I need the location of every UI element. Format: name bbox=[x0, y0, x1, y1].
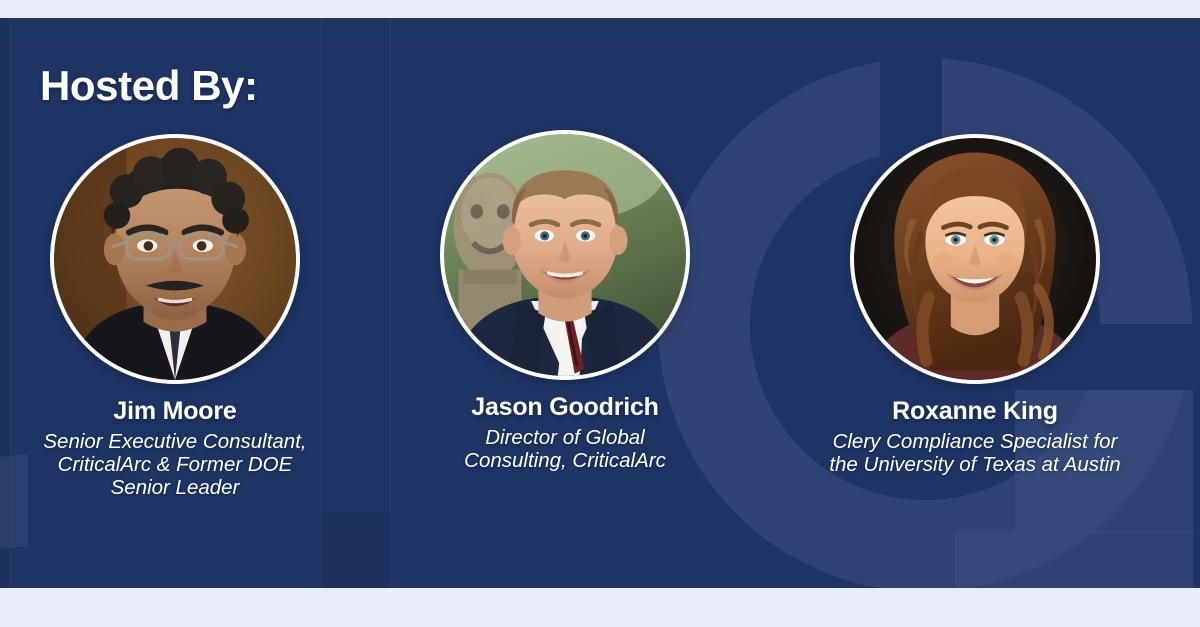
speaker-name: Roxanne King bbox=[815, 398, 1135, 426]
speaker-role: Clery Compliance Specialist for the Univ… bbox=[815, 430, 1135, 476]
page-title: Hosted By: bbox=[40, 62, 258, 110]
speaker-card-jim-moore: Jim Moore Senior Executive Consultant, C… bbox=[15, 134, 335, 499]
speaker-role: Director of Global Consulting, CriticalA… bbox=[405, 426, 725, 472]
portrait-roxanne-king bbox=[854, 138, 1096, 380]
speaker-name: Jason Goodrich bbox=[405, 394, 725, 422]
speaker-card-roxanne-king: Roxanne King Clery Compliance Specialist… bbox=[815, 134, 1135, 476]
hosted-by-slide: Hosted By: bbox=[0, 0, 1200, 627]
speaker-name: Jim Moore bbox=[15, 398, 335, 426]
portrait-jason-goodrich bbox=[444, 134, 686, 376]
avatar bbox=[850, 134, 1100, 384]
speaker-role: Senior Executive Consultant, CriticalArc… bbox=[15, 430, 335, 499]
portrait-jim-moore bbox=[54, 138, 296, 380]
slide-content: Hosted By: bbox=[0, 0, 1200, 627]
speaker-card-jason-goodrich: Jason Goodrich Director of Global Consul… bbox=[405, 130, 725, 472]
avatar bbox=[440, 130, 690, 380]
avatar bbox=[50, 134, 300, 384]
